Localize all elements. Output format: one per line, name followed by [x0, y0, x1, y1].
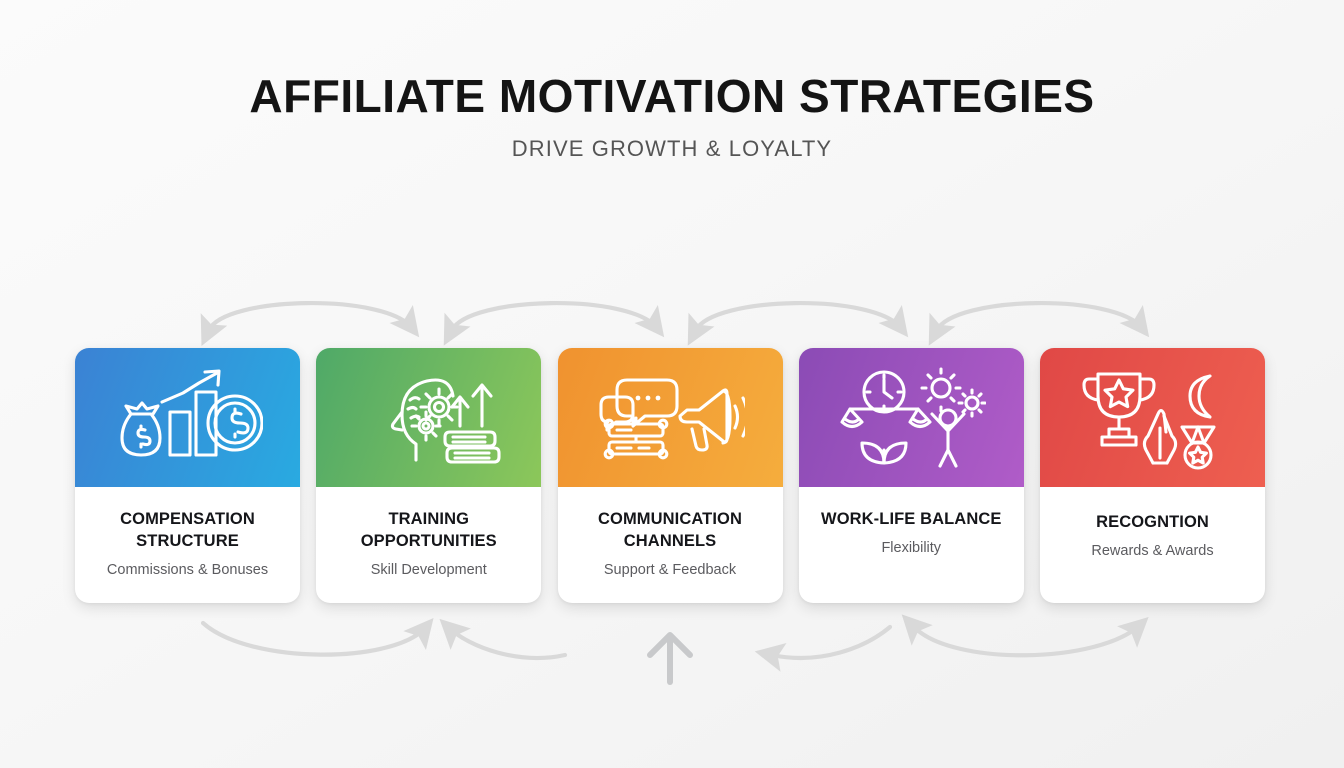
- card-communication-channels[interactable]: COMMUNICATION CHANNELS Support & Feedbac…: [558, 348, 783, 603]
- head-gears-books-arrows-icon: [354, 366, 504, 470]
- card-subtitle: Flexibility: [875, 539, 947, 557]
- card-body-worklife: WORK-LIFE BALANCE Flexibility: [799, 487, 1024, 603]
- card-recognition[interactable]: RECOGNTION Rewards & Awards: [1040, 348, 1265, 603]
- infographic-canvas: AFFILIATE MOTIVATION STRATEGIES DRIVE GR…: [0, 0, 1344, 768]
- card-title: RECOGNTION: [1088, 512, 1217, 534]
- bottom-arrow-left: [203, 623, 426, 655]
- card-title: TRAINING OPPORTUNITIES: [316, 509, 541, 553]
- top-arrow-3: [696, 303, 901, 330]
- card-body-compensation: COMPENSATION STRUCTURE Commissions & Bon…: [75, 487, 300, 603]
- card-training-opportunities[interactable]: TRAINING OPPORTUNITIES Skill Development: [316, 348, 541, 603]
- bottom-arrow-right: [914, 625, 1140, 655]
- card-work-life-balance[interactable]: WORK-LIFE BALANCE Flexibility: [799, 348, 1024, 603]
- card-header-recognition: [1040, 348, 1265, 487]
- card-body-communication: COMMUNICATION CHANNELS Support & Feedbac…: [558, 487, 783, 603]
- card-subtitle: Commissions & Bonuses: [101, 561, 274, 579]
- bottom-arrow-right-inner: [772, 627, 890, 658]
- top-arrow-1: [209, 303, 412, 330]
- page-subtitle: DRIVE GROWTH & LOYALTY: [0, 136, 1344, 162]
- strategy-card-row: COMPENSATION STRUCTURE Commissions & Bon…: [75, 348, 1265, 603]
- card-title: COMMUNICATION CHANNELS: [558, 509, 783, 553]
- card-subtitle: Support & Feedback: [598, 561, 742, 579]
- header: AFFILIATE MOTIVATION STRATEGIES DRIVE GR…: [0, 72, 1344, 162]
- money-bag-bar-chart-coin-icon: [113, 366, 263, 470]
- balance-scale-clock-leaves-person-sun-icon: [836, 366, 986, 470]
- center-up-arrow: [650, 635, 690, 682]
- card-body-recognition: RECOGNTION Rewards & Awards: [1040, 487, 1265, 603]
- speech-bubbles-megaphone-icon: [595, 366, 745, 470]
- card-header-communication: [558, 348, 783, 487]
- card-compensation-structure[interactable]: COMPENSATION STRUCTURE Commissions & Bon…: [75, 348, 300, 603]
- top-arrow-2: [452, 303, 657, 330]
- bottom-arrow-group: [203, 623, 1140, 658]
- card-title: COMPENSATION STRUCTURE: [75, 509, 300, 553]
- page-title: AFFILIATE MOTIVATION STRATEGIES: [0, 72, 1344, 120]
- card-subtitle: Skill Development: [365, 561, 493, 579]
- card-subtitle: Rewards & Awards: [1085, 542, 1219, 560]
- top-arrow-4: [937, 303, 1142, 330]
- top-arrow-group: [209, 303, 1142, 330]
- card-header-training: [316, 348, 541, 487]
- card-header-worklife: [799, 348, 1024, 487]
- card-header-compensation: [75, 348, 300, 487]
- trophy-hands-medal-crescent-icon: [1078, 366, 1228, 470]
- card-title: WORK-LIFE BALANCE: [813, 509, 1009, 531]
- bottom-arrow-left-inner: [448, 627, 565, 658]
- card-body-training: TRAINING OPPORTUNITIES Skill Development: [316, 487, 541, 603]
